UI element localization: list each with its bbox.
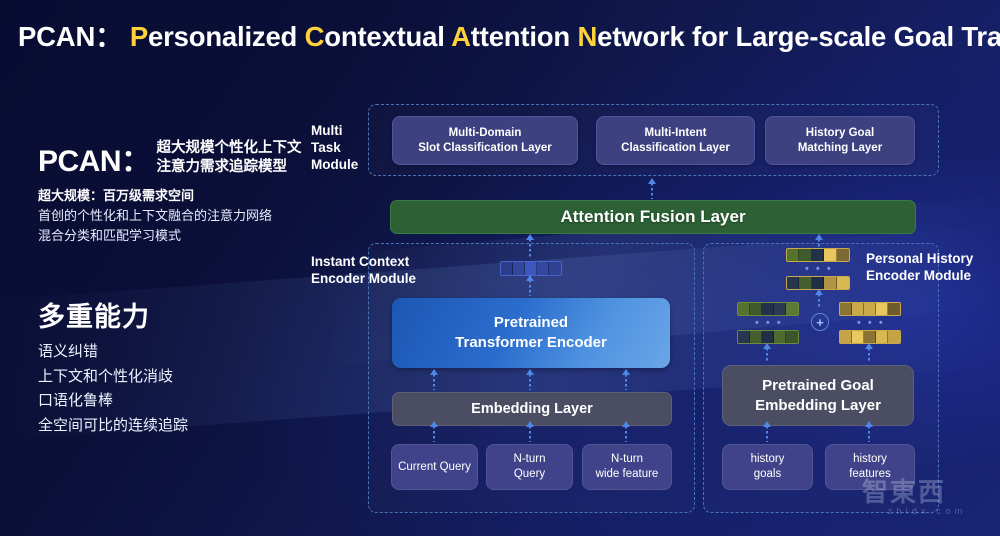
task-2-line1: History Goal <box>806 127 874 139</box>
watermark: 智東西 zhidx.com <box>862 478 992 530</box>
title-highlight-n: N <box>577 21 597 52</box>
goal-vector-strip-2 <box>737 330 799 344</box>
merged-vector-1-cell-4 <box>837 249 849 261</box>
context-vector-strip <box>500 261 562 276</box>
feature-vector-2-cell-0 <box>840 331 852 343</box>
personal-history-label-line2: Encoder Module <box>866 268 971 283</box>
feature-vector-2-cell-4 <box>888 331 900 343</box>
watermark-domain: zhidx.com <box>862 506 992 517</box>
merged-vector-ellipsis: • • • <box>805 265 833 273</box>
capability-item-1: 上下文和个性化消歧 <box>38 365 188 390</box>
arrow-embedding-to-transformer-1 <box>433 374 435 390</box>
page-title: PCAN： Personalized Contextual Attention … <box>18 18 988 56</box>
feature-vector-strip-1 <box>839 302 901 316</box>
feature-bullet-list: 超大规模：百万级需求空间 首创的个性化和上下文融合的注意力网络 混合分类和匹配学… <box>38 186 272 246</box>
slide-canvas: PCAN： Personalized Contextual Attention … <box>0 0 1000 536</box>
feature-vector-2-cell-2 <box>864 331 876 343</box>
goal-vector-2-cell-1 <box>750 331 762 343</box>
goal-vector-1-cell-4 <box>786 303 798 315</box>
multi-task-module-label: Multi Task Module <box>311 122 371 173</box>
multi-task-label-line2: Module <box>311 157 358 172</box>
feature-vector-1-cell-1 <box>852 303 864 315</box>
transformer-line1: Pretrained <box>494 314 568 331</box>
brand-block: PCAN： 超大规模个性化上下文 注意力需求追踪模型 <box>38 136 302 180</box>
title-prefix: PCAN： <box>18 21 122 52</box>
merged-vector-2-cell-0 <box>787 277 799 289</box>
goal-vector-2-cell-3 <box>774 331 786 343</box>
arrow-historygoals-to-goalembedding <box>766 426 768 442</box>
arrow-historyfeatures-to-goalembedding <box>868 426 870 442</box>
feature-vector-2-cell-1 <box>852 331 864 343</box>
task-1-line2: Classification Layer <box>621 142 730 154</box>
input-1-line2: Query <box>514 468 545 480</box>
merged-vector-1-cell-0 <box>787 249 799 261</box>
input-n-turn-query[interactable]: N-turnQuery <box>486 444 573 490</box>
brand-subtitle-line1: 超大规模个性化上下文 <box>157 140 302 156</box>
pretrained-transformer-encoder[interactable]: PretrainedTransformer Encoder <box>392 298 670 368</box>
input-n-turn-wide-feature[interactable]: N-turnwide feature <box>582 444 672 490</box>
feature-vector-2-cell-3 <box>876 331 888 343</box>
instant-context-label-line2: Encoder Module <box>311 271 416 286</box>
arrow-goalembedding-to-featurevector <box>868 348 870 362</box>
personal-history-label-line1: Personal History <box>866 251 973 266</box>
goal-embedding-line2: Embedding Layer <box>755 397 881 414</box>
multi-task-label-line1: Multi Task <box>311 123 343 155</box>
title-rest-1: ersonalized <box>148 21 305 52</box>
goal-vector-1-cell-0 <box>738 303 750 315</box>
instant-context-module-label: Instant Context Encoder Module <box>311 253 431 287</box>
feature-vector-1-cell-0 <box>840 303 852 315</box>
merged-vector-1-cell-3 <box>824 249 836 261</box>
feature-vector-strip-2 <box>839 330 901 344</box>
title-highlight-c: C <box>305 21 325 52</box>
goal-vector-1-cell-1 <box>750 303 762 315</box>
merged-vector-2-cell-3 <box>824 277 836 289</box>
merged-vector-1-cell-1 <box>799 249 811 261</box>
merged-vector-1-cell-2 <box>812 249 824 261</box>
task-layer-multi-domain-slot-classification[interactable]: Multi-DomainSlot Classification Layer <box>392 116 578 165</box>
context-vector-cell-0 <box>501 262 513 275</box>
goal-vector-2-cell-4 <box>786 331 798 343</box>
brand-subtitle-line2: 注意力需求追踪模型 <box>157 159 288 175</box>
context-vector-cell-3 <box>537 262 549 275</box>
transformer-line2: Transformer Encoder <box>455 334 607 351</box>
task-2-line2: Matching Layer <box>798 142 882 154</box>
arrow-plus-to-merged <box>818 294 820 308</box>
title-highlight-a: A <box>451 21 471 52</box>
brand-subtitle: 超大规模个性化上下文 注意力需求追踪模型 <box>157 139 302 177</box>
task-layer-multi-intent-classification[interactable]: Multi-IntentClassification Layer <box>596 116 755 165</box>
task-0-line2: Slot Classification Layer <box>418 142 552 154</box>
merged-history-vector-strip-1 <box>786 248 850 262</box>
feature-vector-1-cell-4 <box>888 303 900 315</box>
context-vector-cell-1 <box>513 262 525 275</box>
feature-vector-1-cell-2 <box>864 303 876 315</box>
feature-bullet-0: 超大规模：百万级需求空间 <box>38 186 272 206</box>
input-0-line1: Current Query <box>398 461 471 473</box>
watermark-logo: 智東西 <box>862 478 992 506</box>
merged-vector-2-cell-2 <box>812 277 824 289</box>
context-vector-cell-4 <box>549 262 561 275</box>
vector-concat-plus-icon: + <box>811 313 829 331</box>
goal-vector-ellipsis: • • • <box>755 319 783 327</box>
attention-fusion-layer[interactable]: Attention Fusion Layer <box>390 200 916 234</box>
arrow-embedding-to-transformer-3 <box>625 374 627 390</box>
title-rest-4: etwork for Large-scale Goal Tracking <box>597 21 1000 52</box>
capability-heading: 多重能力 <box>38 295 150 334</box>
task-1-line1: Multi-Intent <box>645 127 707 139</box>
input-3-line1: history <box>751 453 785 465</box>
goal-vector-1-cell-3 <box>774 303 786 315</box>
capability-item-0: 语义纠错 <box>38 340 188 365</box>
title-rest-2: ontextual <box>324 21 451 52</box>
capability-list: 语义纠错 上下文和个性化消歧 口语化鲁棒 全空间可比的连续追踪 <box>38 340 188 438</box>
merged-vector-2-cell-1 <box>799 277 811 289</box>
input-3-line2: goals <box>754 468 782 480</box>
capability-item-3: 全空间可比的连续追踪 <box>38 414 188 439</box>
arrow-fusion-to-multitask <box>651 183 653 199</box>
personal-history-module-label: Personal History Encoder Module <box>866 250 1000 284</box>
arrow-input-to-embedding-1 <box>433 426 435 442</box>
input-1-line1: N-turn <box>514 453 546 465</box>
task-0-line1: Multi-Domain <box>449 127 522 139</box>
goal-vector-1-cell-2 <box>762 303 774 315</box>
goal-vector-2-cell-2 <box>762 331 774 343</box>
input-history-goals[interactable]: historygoals <box>722 444 813 490</box>
goal-vector-strip-1 <box>737 302 799 316</box>
input-current-query[interactable]: Current Query <box>391 444 478 490</box>
arrow-input-to-embedding-3 <box>625 426 627 442</box>
pretrained-goal-embedding-layer[interactable]: Pretrained GoalEmbedding Layer <box>722 365 914 426</box>
goal-vector-2-cell-0 <box>738 331 750 343</box>
arrow-embedding-to-transformer-2 <box>529 374 531 390</box>
capability-item-2: 口语化鲁棒 <box>38 389 188 414</box>
title-highlight-p: P <box>130 21 148 52</box>
instant-context-label-line1: Instant Context <box>311 254 409 269</box>
feature-bullet-2: 混合分类和匹配学习模式 <box>38 226 272 246</box>
input-2-line2: wide feature <box>596 468 659 480</box>
feature-vector-1-cell-3 <box>876 303 888 315</box>
goal-embedding-line1: Pretrained Goal <box>762 377 874 394</box>
input-4-line1: history <box>853 453 887 465</box>
title-rest-3: ttention <box>471 21 578 52</box>
input-2-line1: N-turn <box>611 453 643 465</box>
feature-bullet-1: 首创的个性化和上下文融合的注意力网络 <box>38 206 272 226</box>
arrow-transformer-to-contextvector <box>529 280 531 296</box>
arrow-input-to-embedding-2 <box>529 426 531 442</box>
merged-vector-2-cell-4 <box>837 277 849 289</box>
task-layer-history-goal-matching[interactable]: History GoalMatching Layer <box>765 116 915 165</box>
arrow-goalembedding-to-goalvector <box>766 348 768 362</box>
merged-history-vector-strip-2 <box>786 276 850 290</box>
feature-vector-ellipsis: • • • <box>857 319 885 327</box>
context-vector-cell-2 <box>525 262 537 275</box>
brand-name: PCAN： <box>38 136 151 180</box>
